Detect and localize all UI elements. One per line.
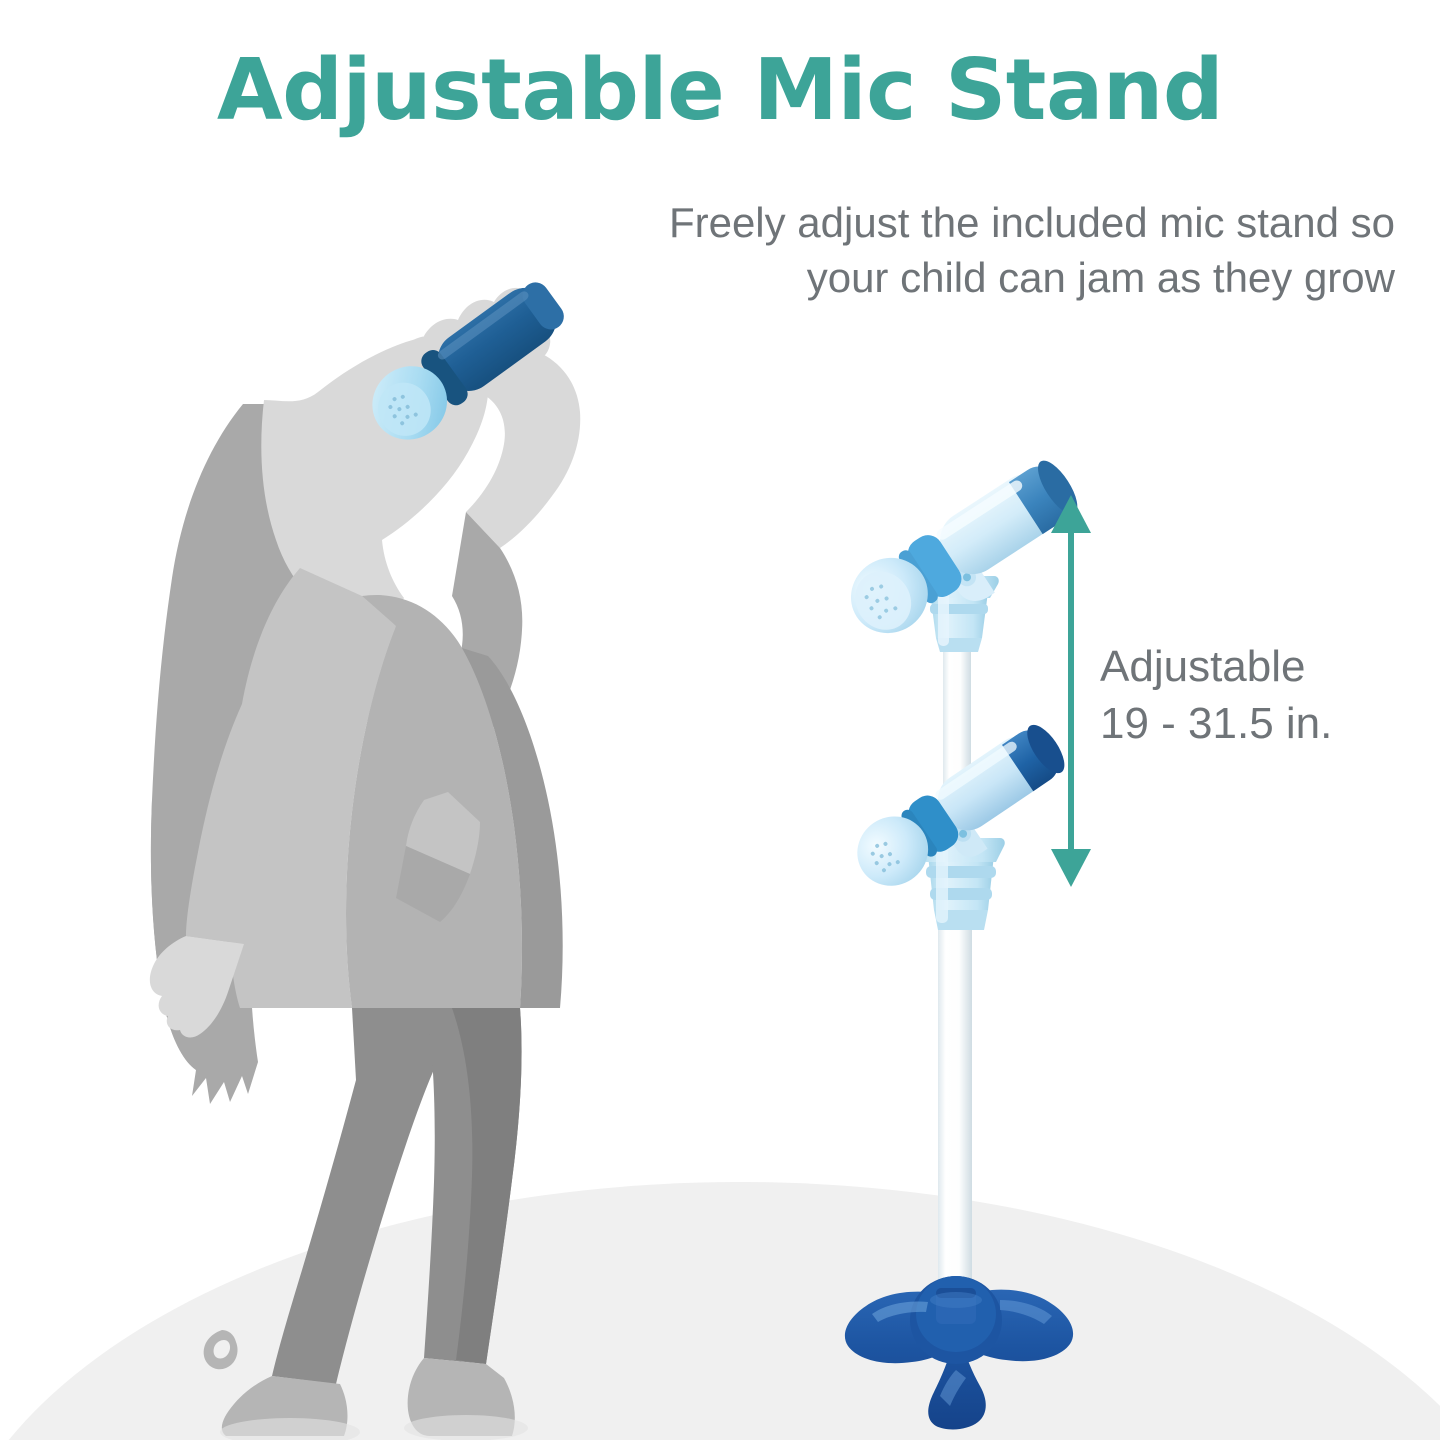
measurement-line-2: 19 - 31.5 in. bbox=[1100, 699, 1332, 748]
page-subtitle: Freely adjust the included mic stand soy… bbox=[385, 196, 1395, 305]
measurement-label: Adjustable19 - 31.5 in. bbox=[1100, 638, 1420, 752]
subtitle-line-1: Freely adjust the included mic stand so bbox=[669, 199, 1395, 246]
subtitle-line-2: your child can jam as they grow bbox=[807, 254, 1395, 301]
page-title: Adjustable Mic Stand bbox=[0, 48, 1440, 133]
measurement-line-1: Adjustable bbox=[1100, 642, 1305, 691]
product-marketing-image: Adjustable19 - 31.5 in. Adjustable Mic S… bbox=[0, 0, 1440, 1440]
stand-base bbox=[845, 1276, 1073, 1429]
